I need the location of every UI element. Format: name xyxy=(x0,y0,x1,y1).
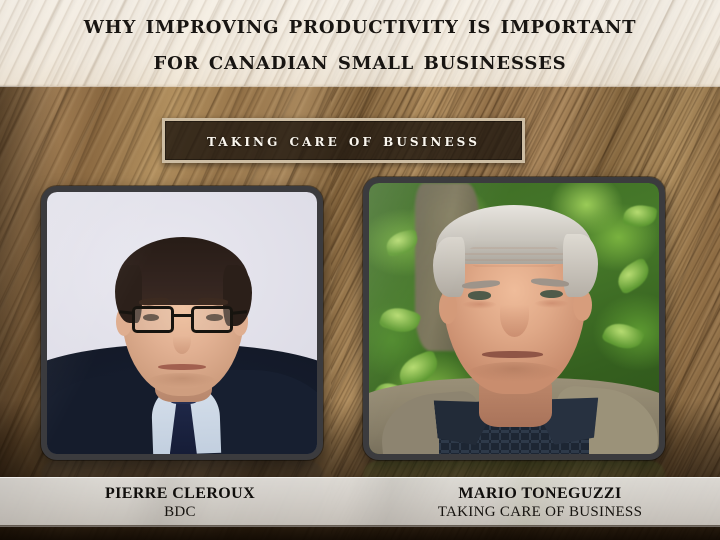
presentation-slide: Why improving productivity is important … xyxy=(0,0,720,540)
photo-frame-pierre-cleroux xyxy=(41,186,323,460)
show-name-banner: Taking care of business xyxy=(162,118,525,163)
portrait-pierre-cleroux xyxy=(47,192,317,454)
speaker-name-band: PIERRE CLEROUX BDC MARIO TONEGUZZI TAKIN… xyxy=(0,477,720,527)
jaw-shadow xyxy=(465,362,564,389)
eye-left xyxy=(468,291,491,299)
under-eye-right xyxy=(534,300,569,308)
chin-shadow xyxy=(147,373,217,391)
speaker-affiliation: TAKING CARE OF BUSINESS xyxy=(438,503,642,521)
eyeglasses-bridge xyxy=(173,314,192,317)
eyeglasses-lens-left xyxy=(132,306,174,334)
portrait-mario-toneguzzi xyxy=(369,183,659,454)
speaker-block-right: MARIO TONEGUZZI TAKING CARE OF BUSINESS xyxy=(360,478,720,526)
hair-side-left xyxy=(433,237,465,297)
title-line-1: Why improving productivity is important xyxy=(84,8,637,42)
forehead-lines xyxy=(465,243,564,270)
photo-frame-mario-toneguzzi xyxy=(363,177,665,460)
slide-title: Why improving productivity is important … xyxy=(0,0,720,86)
slide-bottom-shadow xyxy=(0,525,720,540)
under-eye-left xyxy=(462,301,497,309)
speaker-name: MARIO TONEGUZZI xyxy=(458,484,621,503)
show-name-label: Taking care of business xyxy=(207,131,480,151)
nose xyxy=(500,294,529,337)
mouth xyxy=(482,351,543,358)
speaker-block-left: PIERRE CLEROUX BDC xyxy=(0,478,360,526)
mouth xyxy=(158,364,207,370)
title-line-2: for Canadian small businesses xyxy=(154,44,567,78)
speaker-affiliation: BDC xyxy=(164,503,196,521)
eyeglasses-lens-right xyxy=(191,306,233,334)
speaker-name: PIERRE CLEROUX xyxy=(105,484,255,503)
